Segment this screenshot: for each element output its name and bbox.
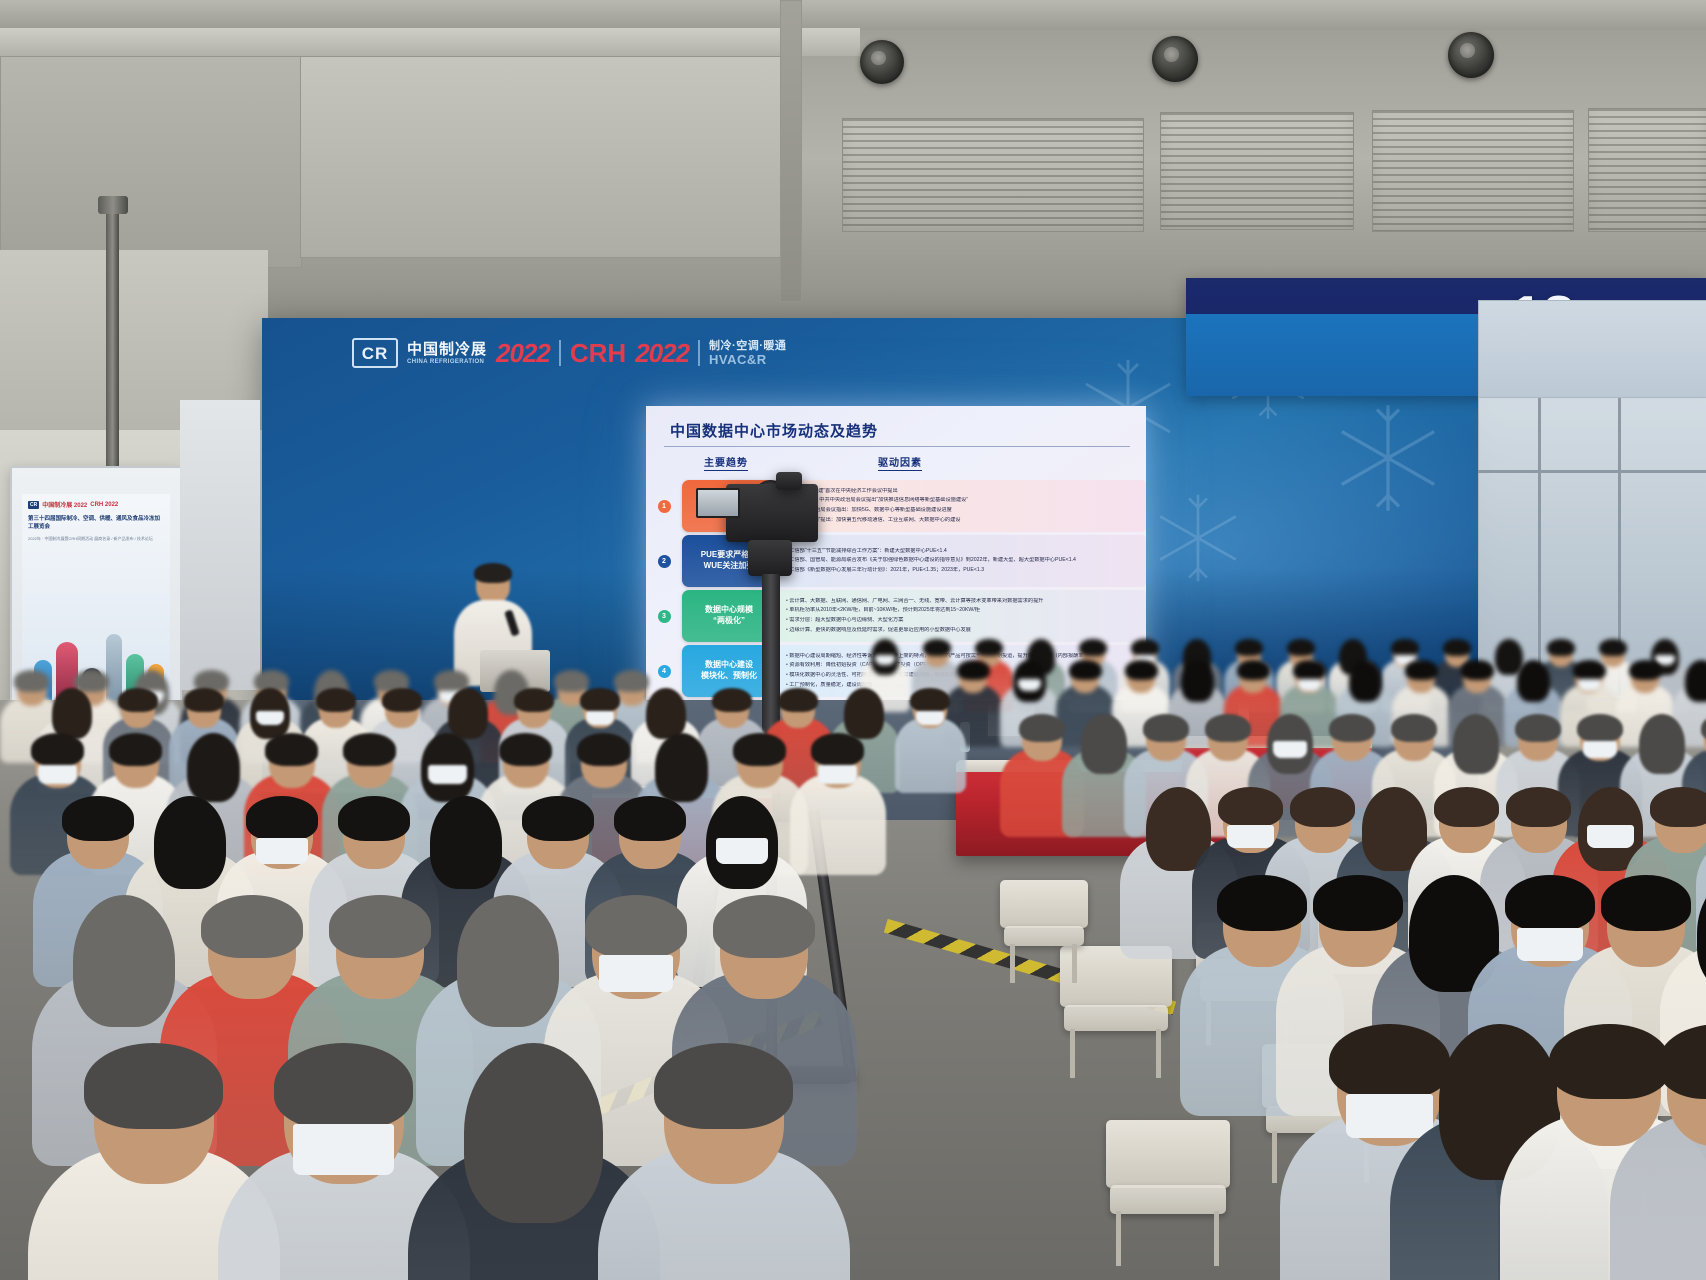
audience-member-hair	[31, 733, 84, 766]
ceiling-beam	[0, 0, 1706, 30]
duct-grille	[1589, 109, 1706, 231]
ceiling-slab	[0, 28, 860, 56]
audience-member-hair	[154, 796, 226, 889]
event-cn-name: 中国制冷展	[407, 342, 487, 357]
face-mask	[916, 711, 945, 725]
audience-member-hair	[713, 895, 815, 958]
tripod-head[interactable]	[748, 540, 792, 576]
audience-member-hair	[811, 733, 864, 766]
audience-member-hair	[554, 670, 589, 692]
audience-member-torso	[895, 718, 966, 793]
audience-member-hair	[118, 688, 157, 712]
spotlight-lens	[1460, 43, 1475, 58]
face-mask	[256, 711, 285, 725]
audience-member-hair	[382, 688, 421, 712]
poster-body: 2022年 · 中国制冷展暨CRH同期活动 展商名录 / 新产品发布 / 技术论…	[28, 536, 164, 543]
face-mask	[586, 711, 615, 725]
duct-grille	[1161, 113, 1353, 229]
audience-member	[1610, 1030, 1706, 1280]
chair-leg	[1272, 1131, 1277, 1183]
glass-transom	[1478, 470, 1706, 473]
audience-member-hair	[1629, 660, 1661, 680]
hvac-block: 制冷·空调·暖通 HVAC&R	[709, 341, 786, 366]
face-mask	[256, 838, 308, 864]
audience-member-hair	[1453, 714, 1499, 774]
slide-title-rule	[664, 446, 1130, 447]
audience-member-hair	[246, 796, 318, 841]
audience-member-hair	[1293, 660, 1325, 680]
audience-member-hair	[655, 733, 708, 802]
audience-member-hair	[1181, 660, 1213, 702]
audience-member-hair	[109, 733, 162, 766]
cn-name-block: 中国制冷展 CHINA REFRIGERATION	[407, 342, 487, 365]
column-header-trends: 主要趋势	[704, 454, 748, 471]
audience-member-hair	[1659, 1024, 1706, 1099]
year-right: 2022	[635, 340, 689, 366]
audience-member-hair	[1515, 714, 1561, 743]
hvac-cn-label: 制冷·空调·暖通	[709, 341, 786, 352]
audience-member-hair	[1081, 714, 1127, 774]
ceiling-duct-1	[842, 118, 1144, 232]
face-mask	[1583, 741, 1617, 758]
audience-member-hair	[1547, 639, 1575, 656]
wall-panel-mid	[780, 0, 802, 302]
audience-member-hair	[1237, 660, 1269, 680]
chair-leg	[1072, 944, 1077, 983]
audience-member-hair	[1685, 660, 1706, 702]
audience-member-hair	[1443, 639, 1471, 656]
audience-member-hair	[1143, 714, 1189, 743]
audience-member-hair	[14, 670, 49, 692]
duct-grille	[1373, 111, 1573, 231]
audience-member-hair	[338, 796, 410, 841]
ceiling-spotlight-2	[1152, 36, 1198, 82]
year-left: 2022	[496, 340, 550, 366]
gate-sign-blue-panel	[1186, 314, 1516, 396]
audience-member-hair	[646, 688, 685, 739]
audience-member-hair	[448, 688, 487, 739]
audience-member-hair	[778, 688, 817, 712]
audience-member-hair	[614, 796, 686, 841]
chair-seat	[1064, 1005, 1168, 1031]
ceiling-duct-2	[1160, 112, 1354, 230]
event-en-name: CHINA REFRIGERATION	[407, 359, 487, 365]
audience-member-hair	[274, 1043, 413, 1129]
face-mask	[818, 765, 857, 784]
presenter-hair	[474, 563, 512, 583]
chair-leg	[1116, 1211, 1121, 1266]
audience-member-hair	[1517, 660, 1549, 702]
camera-viewfinder	[776, 472, 802, 490]
event-logo-lockup: CR 中国制冷展 CHINA REFRIGERATION 2022 CRH 20…	[352, 336, 786, 370]
row-number-badge: 1	[658, 500, 671, 513]
audience-member-hair	[1069, 660, 1101, 680]
audience-member-hair	[1329, 714, 1375, 743]
poster-crh-logo: CRH 2022	[90, 502, 118, 508]
spotlight-lens	[871, 51, 885, 65]
chair-leg	[1156, 1029, 1161, 1079]
column-header-drivers: 驱动因素	[878, 454, 922, 471]
audience-member-hair	[343, 733, 396, 766]
chair-seat	[1004, 926, 1084, 946]
slide-title: 中国数据中心市场动态及趋势	[670, 420, 878, 441]
audience-member-hair	[1079, 639, 1107, 656]
audience-member-hair	[1639, 714, 1685, 774]
audience-member-hair	[74, 670, 109, 692]
row-number: 1	[646, 480, 682, 532]
duct-grille	[843, 119, 1143, 231]
wall-panel-center	[300, 56, 782, 258]
face-mask	[716, 838, 768, 864]
audience-member-hair	[1391, 639, 1419, 656]
audience-member-hair	[1235, 639, 1263, 656]
pole-head	[98, 196, 128, 214]
face-mask	[1578, 679, 1602, 691]
row-number-badge: 3	[658, 610, 671, 623]
stage-light-pole	[106, 196, 119, 496]
ceiling-duct-4	[1588, 108, 1706, 232]
audience-member-hair	[654, 1043, 793, 1129]
audience-member-hair	[1405, 660, 1437, 680]
audience-member-hair	[184, 688, 223, 712]
audience-member-hair	[957, 660, 989, 680]
row-number: 2	[646, 535, 682, 587]
audience-member-hair	[910, 688, 949, 712]
audience-member-hair	[712, 688, 751, 712]
spotlight-lens	[1164, 47, 1179, 62]
audience-member-hair	[1205, 714, 1251, 743]
wall-panel-left	[0, 56, 302, 268]
audience-member-hair	[1577, 714, 1623, 743]
audience-member-hair	[499, 733, 552, 766]
audience-member-hair	[522, 796, 594, 841]
audience-member-hair	[514, 688, 553, 712]
chair	[1000, 880, 1088, 928]
row-number: 3	[646, 590, 682, 642]
ceiling-spotlight-3	[1448, 32, 1494, 78]
audience-member-hair	[975, 639, 1003, 656]
chair-leg	[1214, 1211, 1219, 1266]
audience-member-hair	[84, 1043, 223, 1129]
logo-divider-2	[698, 340, 700, 366]
ceiling-duct-3	[1372, 110, 1574, 232]
crh-logo: CRH	[570, 340, 626, 366]
chair-seat	[1110, 1185, 1226, 1214]
face-mask	[1018, 679, 1042, 691]
poster-logo: CR 中国制冷展 2022 CRH 2022	[28, 500, 164, 509]
face-mask	[1273, 741, 1307, 758]
audience-member-hair	[1019, 714, 1065, 743]
chair-leg	[1070, 1029, 1075, 1079]
audience-member-hair	[464, 1043, 603, 1223]
row-number-badge: 2	[658, 555, 671, 568]
audience-member-hair	[733, 733, 786, 766]
face-mask	[599, 955, 673, 992]
conference-photo-scene: CR 中国制冷展 CHINA REFRIGERATION 2022 CRH 20…	[0, 0, 1706, 1280]
poster-heading: 第三十四届国际制冷、空调、供暖、通风及食品冷冻加工展览会	[28, 515, 164, 532]
ceiling-spotlight-1	[860, 40, 904, 84]
audience-member-hair	[1391, 714, 1437, 743]
audience-member-hair	[430, 796, 502, 889]
logo-divider-1	[559, 340, 561, 366]
audience-member-hair	[1287, 639, 1315, 656]
face-mask	[1298, 679, 1322, 691]
audience-member-hair	[580, 688, 619, 712]
hvac-en-label: HVAC&R	[709, 353, 786, 366]
camera-lcd-screen[interactable]	[696, 488, 740, 518]
audience-member-hair	[1573, 660, 1605, 680]
face-mask	[428, 765, 467, 784]
audience-member-hair	[1125, 660, 1157, 680]
face-mask	[38, 765, 77, 784]
audience-member-hair	[1461, 660, 1493, 680]
audience-member	[895, 690, 966, 799]
audience-member-hair	[187, 733, 240, 802]
poster-cr-mark: CR	[28, 501, 39, 509]
audience-member-hair	[923, 639, 951, 656]
audience-member-hair	[62, 796, 134, 841]
audience-member-hair	[1349, 660, 1381, 702]
glass-wall-far	[1478, 300, 1706, 398]
face-mask	[293, 1124, 394, 1174]
audience-member-hair	[265, 733, 318, 766]
audience-member-hair	[1131, 639, 1159, 656]
poster-cn-logo: 中国制冷展 2022	[42, 500, 87, 509]
chair-leg	[1010, 944, 1015, 983]
audience-member-hair	[577, 733, 630, 766]
cr-logo-mark: CR	[352, 338, 398, 368]
audience-member-hair	[1599, 639, 1627, 656]
audience-member-hair	[316, 688, 355, 712]
audience-member-hair	[614, 670, 649, 692]
chair	[1106, 1120, 1230, 1188]
audience-member	[598, 1050, 850, 1280]
audience-member-hair	[52, 688, 91, 739]
side-banner-strip	[180, 400, 260, 690]
audience-member-hair	[844, 688, 883, 739]
